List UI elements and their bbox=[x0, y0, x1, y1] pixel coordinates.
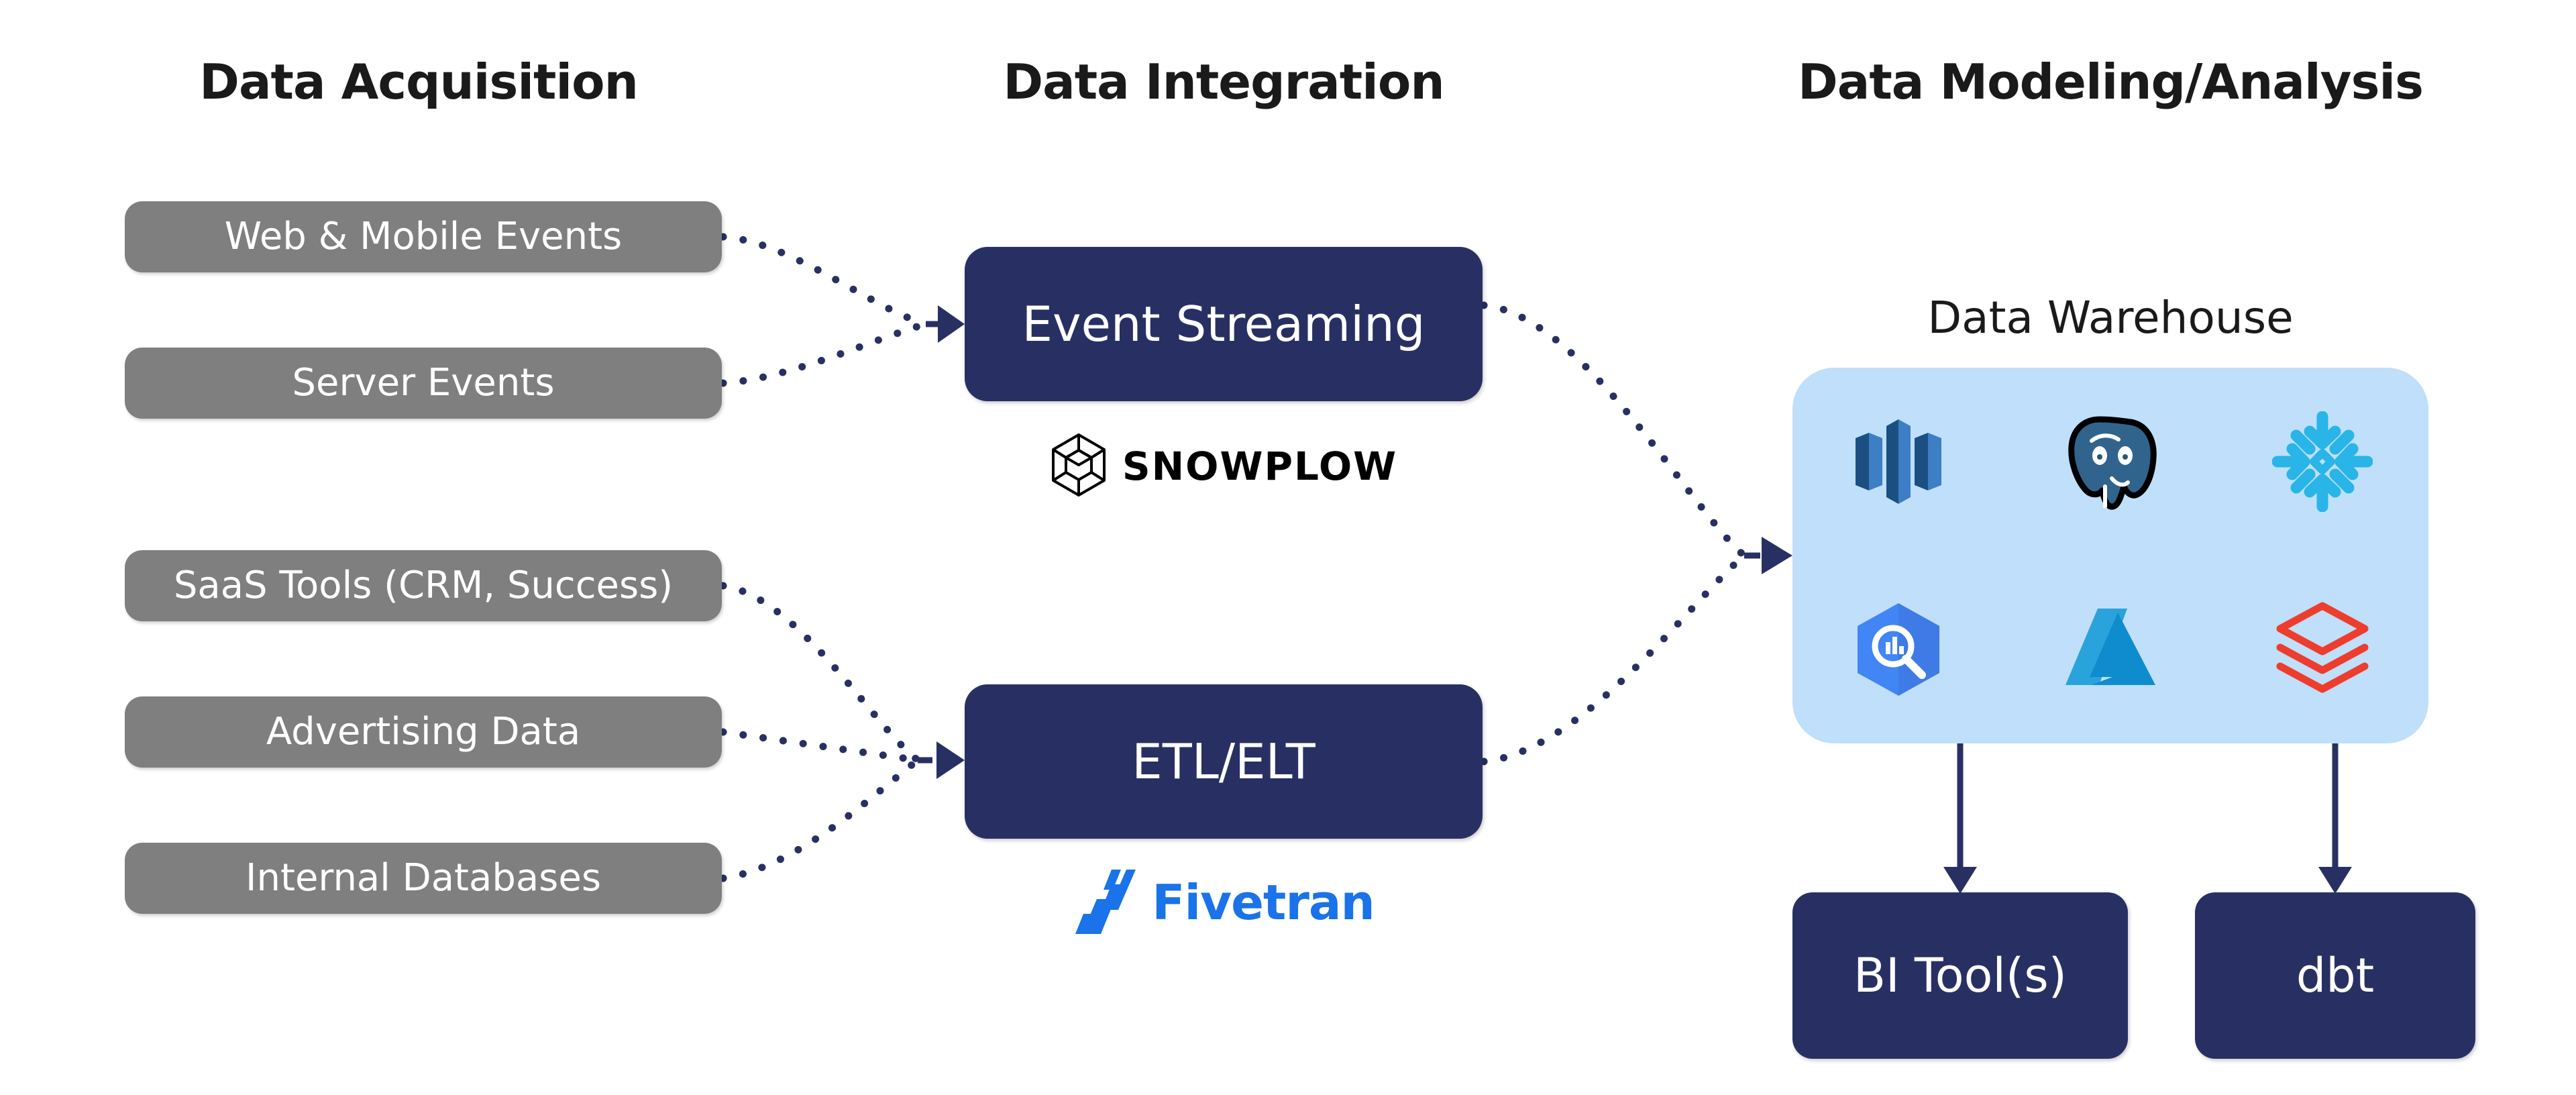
stage-label: ETL/ELT bbox=[1132, 737, 1316, 786]
snowplow-wordmark: SNOWPLOW bbox=[1122, 447, 1397, 486]
output-box-dbt[interactable]: dbt bbox=[2195, 892, 2475, 1059]
connector-event-streaming-to-warehouse bbox=[1484, 305, 1744, 556]
connector-etl-to-warehouse bbox=[1484, 556, 1744, 762]
connector-web-to-event-streaming bbox=[723, 237, 926, 324]
source-box-saas-tools[interactable]: SaaS Tools (CRM, Success) bbox=[125, 550, 722, 621]
microsoft-azure-icon[interactable] bbox=[2060, 599, 2161, 700]
connector-server-to-event-streaming bbox=[723, 324, 926, 383]
arrowhead-etl bbox=[936, 741, 965, 779]
arrowhead-dbt bbox=[2318, 867, 2352, 894]
column-heading-data-acquisition: Data Acquisition bbox=[199, 54, 638, 110]
vendor-logo-snowplow: SNOWPLOW bbox=[965, 429, 1483, 503]
warehouse-icon-grid bbox=[1792, 368, 2428, 743]
connector-internal-to-etl bbox=[723, 760, 918, 878]
google-bigquery-icon[interactable] bbox=[1848, 599, 1949, 700]
source-label: SaaS Tools (CRM, Success) bbox=[174, 567, 673, 605]
output-label: BI Tool(s) bbox=[1854, 952, 2067, 999]
postgresql-elephant-icon[interactable] bbox=[2060, 411, 2161, 512]
source-box-advertising-data[interactable]: Advertising Data bbox=[125, 696, 722, 768]
source-label: Server Events bbox=[292, 364, 554, 402]
arrowhead-bi bbox=[1943, 867, 1977, 894]
fivetran-wordmark: Fivetran bbox=[1152, 878, 1374, 927]
warehouse-title: Data Warehouse bbox=[1927, 292, 2293, 344]
arrowhead-warehouse bbox=[1762, 537, 1792, 574]
connector-ads-to-etl bbox=[723, 732, 918, 760]
source-box-internal-databases[interactable]: Internal Databases bbox=[125, 843, 722, 914]
stage-label: Event Streaming bbox=[1022, 300, 1426, 348]
output-label: dbt bbox=[2296, 952, 2374, 999]
source-box-server-events[interactable]: Server Events bbox=[125, 348, 722, 419]
diagram-canvas: Data Acquisition Data Integration Data M… bbox=[0, 0, 2576, 1095]
source-label: Advertising Data bbox=[266, 713, 580, 751]
column-heading-data-modeling-analysis: Data Modeling/Analysis bbox=[1798, 54, 2423, 110]
arrowhead-event-streaming bbox=[938, 305, 965, 343]
output-box-bi-tools[interactable]: BI Tool(s) bbox=[1792, 892, 2128, 1059]
source-box-web-mobile-events[interactable]: Web & Mobile Events bbox=[125, 201, 722, 272]
stage-box-etl-elt[interactable]: ETL/ELT bbox=[965, 684, 1483, 839]
stage-box-event-streaming[interactable]: Event Streaming bbox=[965, 247, 1483, 401]
connector-saas-to-etl bbox=[723, 586, 918, 760]
fivetran-slash-icon bbox=[1073, 864, 1137, 941]
vendor-logo-fivetran: Fivetran bbox=[965, 859, 1483, 946]
source-label: Internal Databases bbox=[246, 859, 601, 897]
aws-redshift-icon[interactable] bbox=[1848, 411, 1949, 512]
snowplow-hexagon-icon bbox=[1050, 433, 1108, 500]
snowflake-icon[interactable] bbox=[2272, 411, 2373, 512]
column-heading-data-integration: Data Integration bbox=[1003, 54, 1444, 110]
source-label: Web & Mobile Events bbox=[225, 218, 622, 256]
databricks-icon[interactable] bbox=[2272, 599, 2373, 700]
